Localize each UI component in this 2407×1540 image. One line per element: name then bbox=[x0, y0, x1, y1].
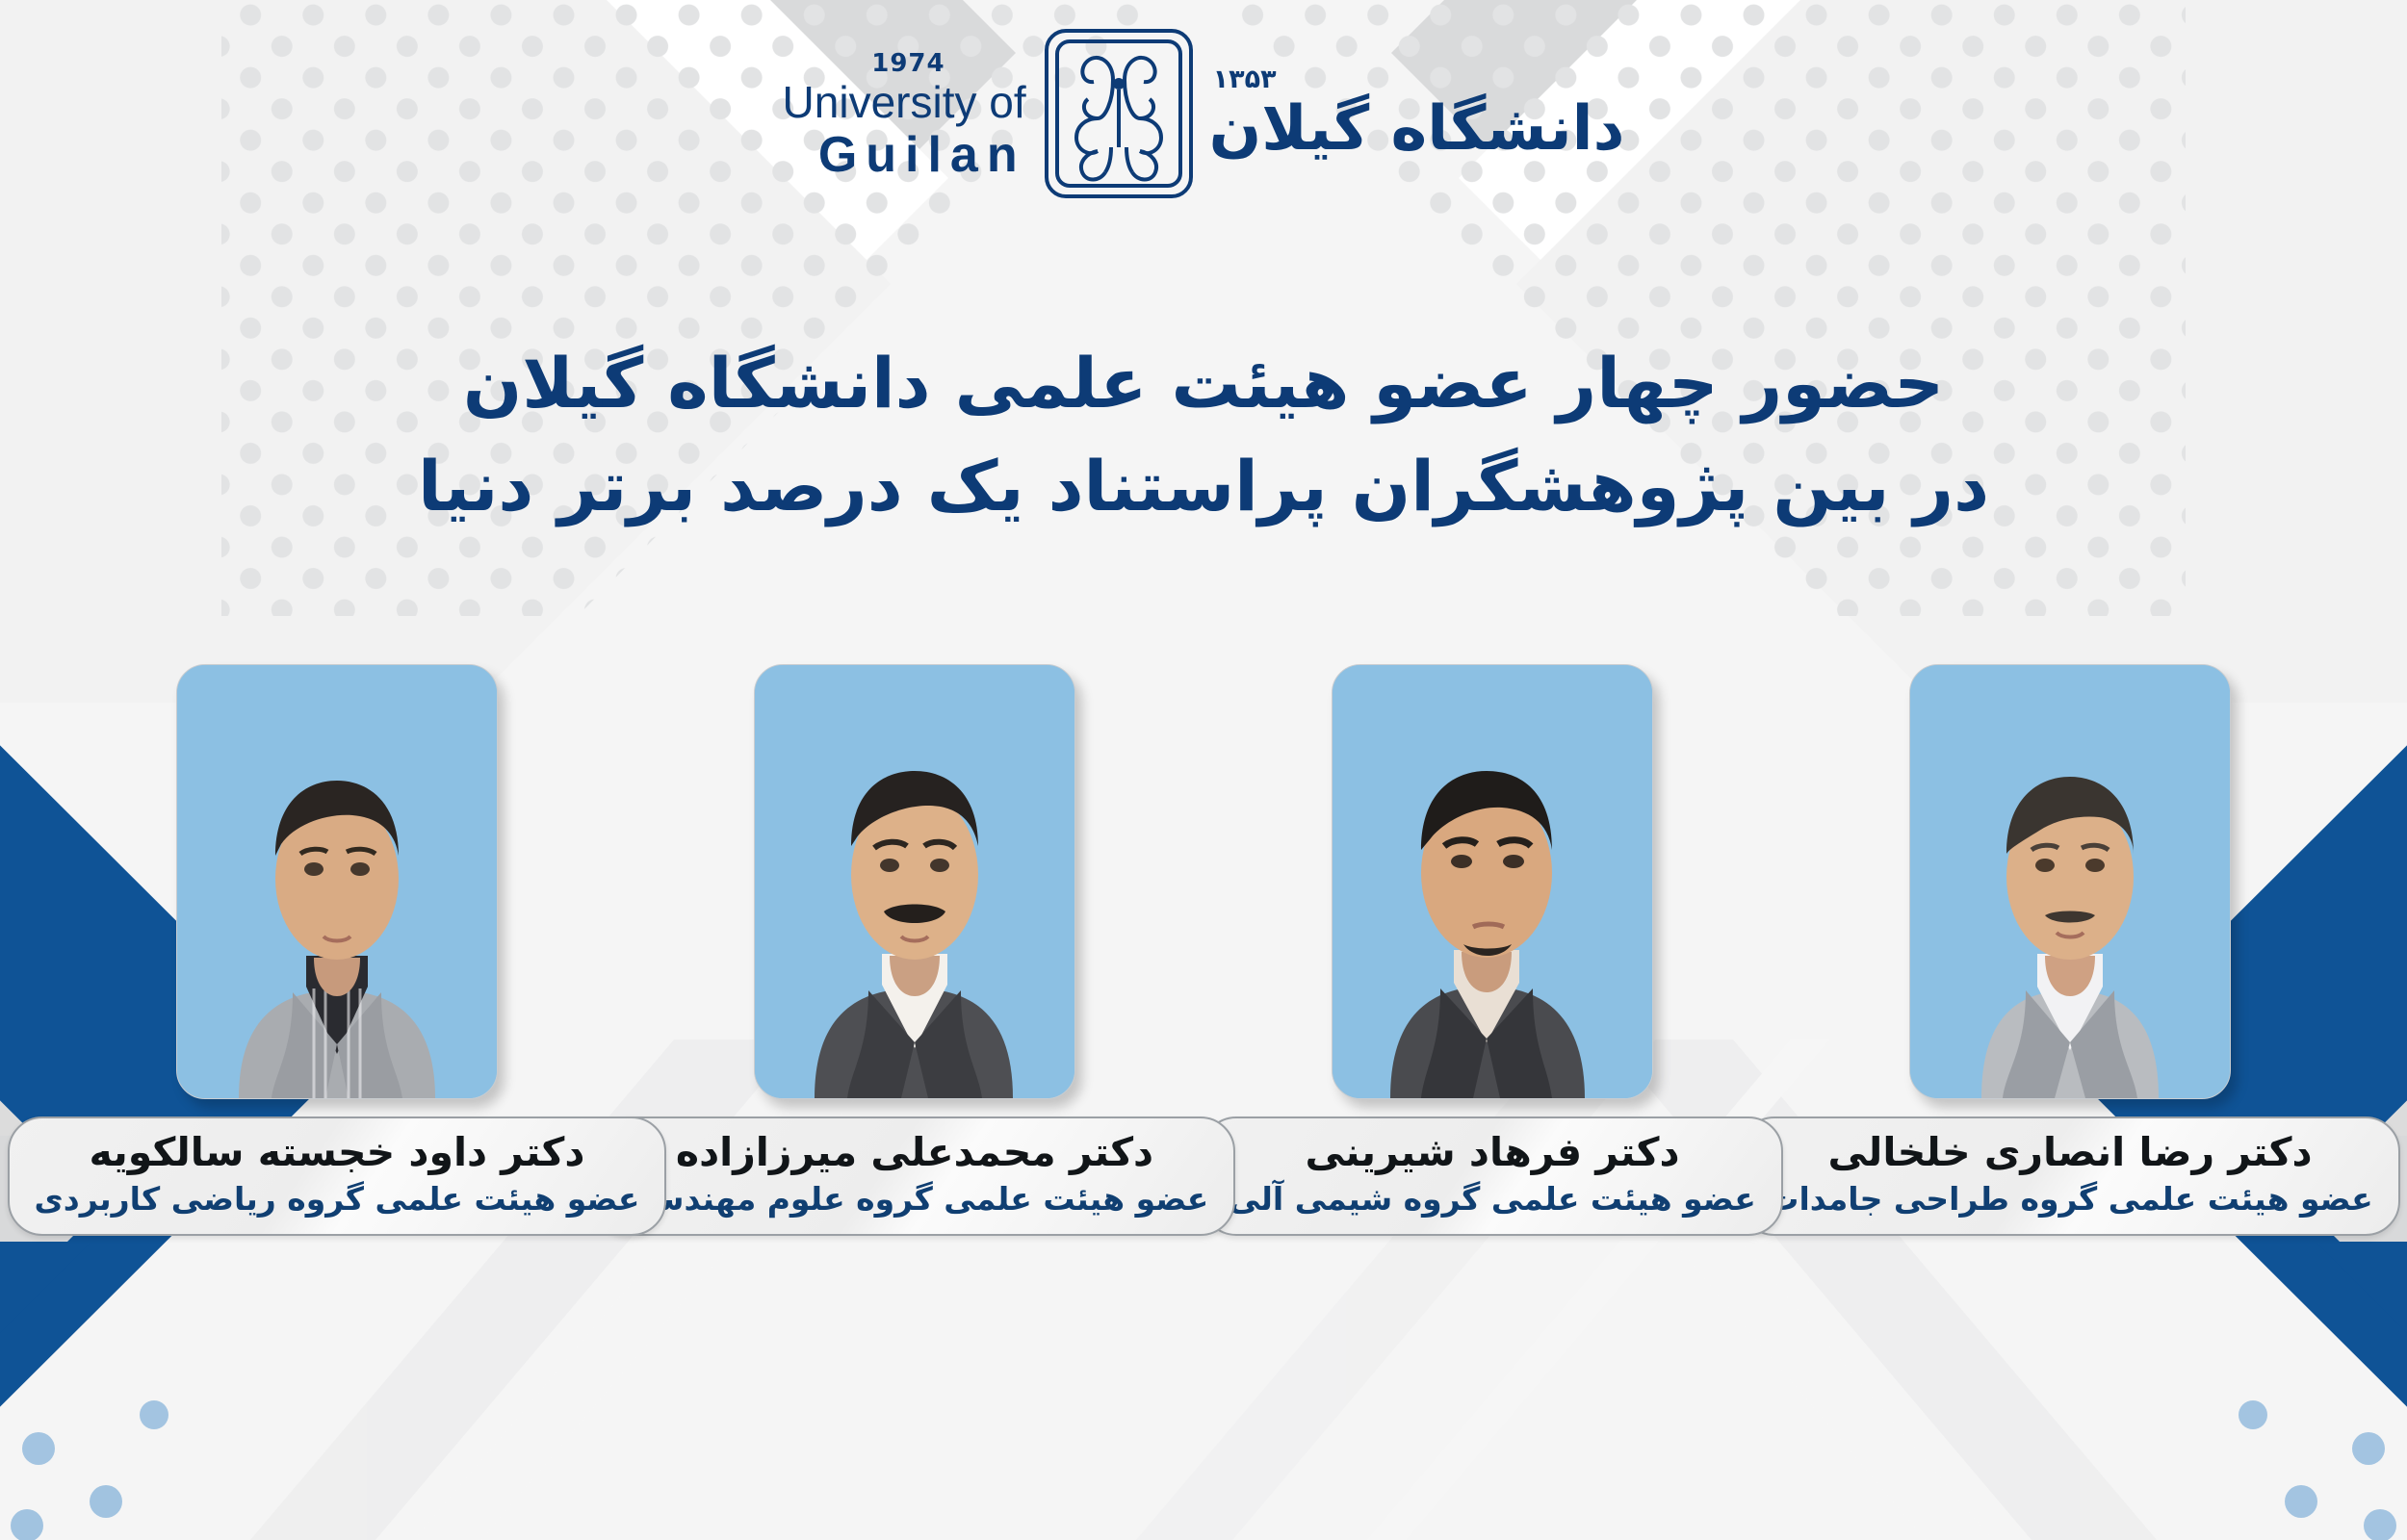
logo-guilan-word: Guilan bbox=[818, 130, 1026, 180]
portrait-photo-2 bbox=[1332, 664, 1653, 1099]
researcher-name: دکتر داود خجسته سالکویه bbox=[35, 1128, 640, 1177]
researchers-row: دکتر رضا انصاری خلخالی عضو هیئت علمی گرو… bbox=[0, 664, 2407, 1236]
researcher-name-badge: دکتر فرهاد شیرینی عضو هیئت علمی گروه شیم… bbox=[1202, 1116, 1783, 1236]
portrait-illustration-4 bbox=[177, 665, 497, 1098]
researcher-card: دکتر محمدعلی میرزازاده عضو هیئت علمی گرو… bbox=[640, 664, 1189, 1236]
researcher-role: عضو هیئت علمی گروه طراحی جامدات bbox=[1767, 1179, 2372, 1220]
researcher-name: دکتر محمدعلی میرزازاده bbox=[621, 1128, 1209, 1177]
researcher-name: دکتر رضا انصاری خلخالی bbox=[1767, 1128, 2372, 1177]
researcher-role: عضو هیئت علمی گروه ریاضی کاربردی bbox=[35, 1179, 640, 1220]
university-logo: 1974 University of Guilan bbox=[0, 29, 2407, 202]
portrait-illustration-3 bbox=[755, 665, 1074, 1098]
logo-year-gregorian: 1974 bbox=[871, 51, 945, 76]
logo-persian-text: ۱۳۵۳ دانشگاه گیلان bbox=[1209, 64, 1625, 167]
portrait-illustration-2 bbox=[1333, 665, 1652, 1098]
researcher-name: دکتر فرهاد شیرینی bbox=[1229, 1128, 1756, 1177]
emblem-svg bbox=[1042, 26, 1196, 201]
portrait-photo-3 bbox=[754, 664, 1075, 1099]
logo-university-name-fa: دانشگاه گیلان bbox=[1209, 90, 1625, 167]
logo-english-text: 1974 University of Guilan bbox=[783, 51, 1026, 180]
title-line-2: در بین پژوهشگران پراستناد یک درصد برتر د… bbox=[0, 435, 2407, 538]
page-title: حضور چهار عضو هیئت علمی دانشگاه گیلان در… bbox=[0, 332, 2407, 537]
researcher-card: دکتر داود خجسته سالکویه عضو هیئت علمی گر… bbox=[63, 664, 611, 1236]
researcher-name-badge: دکتر رضا انصاری خلخالی عضو هیئت علمی گرو… bbox=[1740, 1116, 2399, 1236]
title-line-1: حضور چهار عضو هیئت علمی دانشگاه گیلان bbox=[0, 332, 2407, 435]
poster-canvas: 1974 University of Guilan bbox=[0, 0, 2407, 1540]
portrait-illustration-1 bbox=[1910, 665, 2230, 1098]
researcher-role: عضو هیئت علمی گروه علوم مهندسی bbox=[621, 1179, 1209, 1220]
portrait-photo-4 bbox=[176, 664, 498, 1099]
researcher-role: عضو هیئت علمی گروه شیمی آلی bbox=[1229, 1179, 1756, 1220]
researcher-name-badge: دکتر محمدعلی میرزازاده عضو هیئت علمی گرو… bbox=[594, 1116, 1236, 1236]
portrait-photo-1 bbox=[1909, 664, 2231, 1099]
researcher-card: دکتر رضا انصاری خلخالی عضو هیئت علمی گرو… bbox=[1796, 664, 2344, 1236]
university-emblem-icon bbox=[1042, 26, 1196, 205]
researcher-name-badge: دکتر داود خجسته سالکویه عضو هیئت علمی گر… bbox=[8, 1116, 667, 1236]
researcher-card: دکتر فرهاد شیرینی عضو هیئت علمی گروه شیم… bbox=[1218, 664, 1767, 1236]
logo-university-word: University of bbox=[783, 80, 1026, 124]
